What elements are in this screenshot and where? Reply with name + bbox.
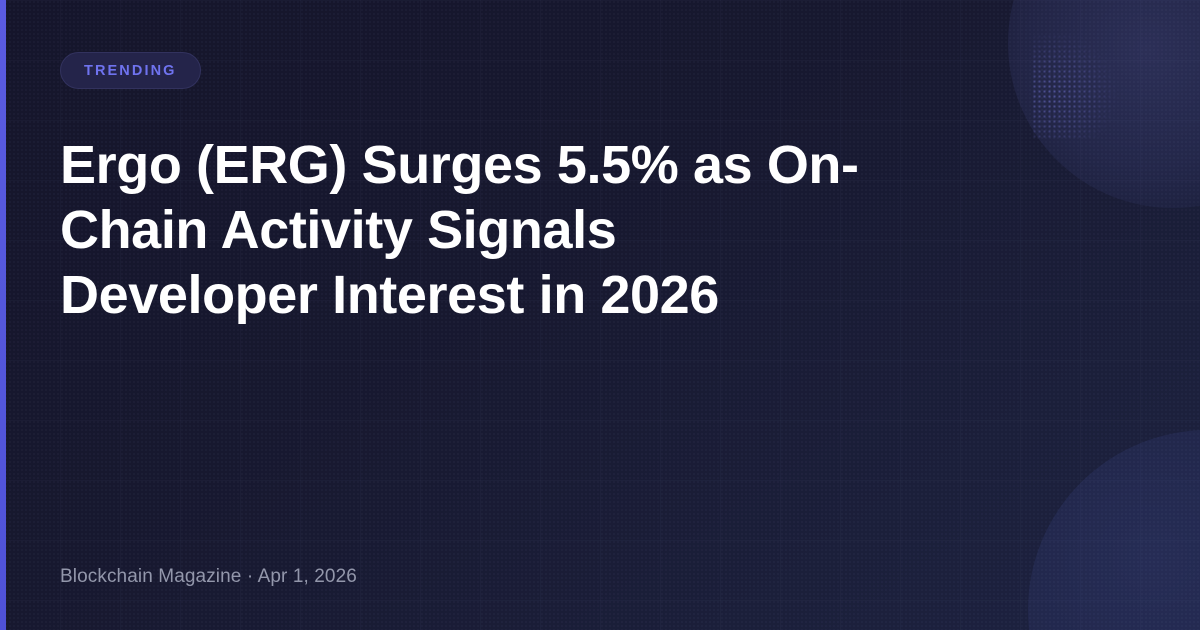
social-share-card: TRENDING Ergo (ERG) Surges 5.5% as On-Ch… (0, 0, 1200, 630)
status-badge-label: TRENDING (84, 63, 177, 79)
card-content: TRENDING Ergo (ERG) Surges 5.5% as On-Ch… (0, 0, 1200, 630)
page-title: Ergo (ERG) Surges 5.5% as On-Chain Activ… (60, 133, 860, 327)
status-badge: TRENDING (60, 52, 201, 89)
content-spacer (60, 327, 1140, 566)
footer-attribution: Blockchain Magazine · Apr 1, 2026 (60, 566, 1140, 588)
